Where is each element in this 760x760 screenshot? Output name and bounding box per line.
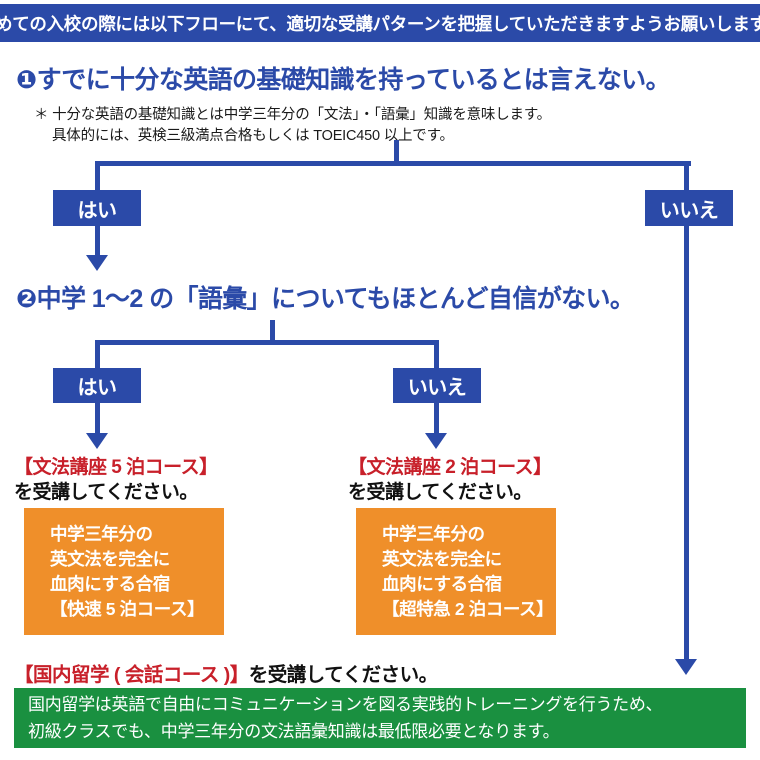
result-left-heading-red: 【文法講座 5 泊コース】 [14, 455, 218, 480]
final-heading-black: を受講してください。 [249, 664, 438, 686]
branch-q1-no-label: いいえ [660, 194, 719, 223]
question-1-footnote-line-1: ＊ 十分な英語の基礎知識とは中学三年分の「文法」・「語彙」知識を意味します。 [34, 103, 551, 124]
branch-q1-no-badge[interactable]: いいえ [645, 190, 733, 226]
result-right-box-line-3: 血肉にする合宿 [382, 572, 530, 597]
branch-q1-yes-badge[interactable]: はい [53, 190, 141, 226]
question-2-text: ❷中学 1〜2 の「語彙」についてもほとんど自信がない。 [16, 279, 634, 315]
final-heading-red: 【国内留学 ( 会話コース )】 [14, 664, 249, 686]
header-banner: 初めての入校の際には以下フローにて、適切な受講パターンを把握していただきますよう… [0, 4, 760, 42]
result-right-heading-red: 【文法講座 2 泊コース】 [348, 455, 552, 480]
result-right-box-line-4: 【超特急 2 泊コース】 [382, 597, 530, 622]
result-right-box-line-2: 英文法を完全に [382, 547, 530, 572]
result-left-box-line-2: 英文法を完全に [50, 547, 198, 572]
result-left-box-line-3: 血肉にする合宿 [50, 572, 198, 597]
connector-q1-yes-arrow [86, 255, 108, 271]
branch-q1-yes-label: はい [78, 194, 117, 223]
result-left-orange-box: 中学三年分の 英文法を完全に 血肉にする合宿 【快速 5 泊コース】 [24, 508, 224, 635]
result-left-box-line-1: 中学三年分の [50, 522, 198, 547]
branch-q2-no-label: いいえ [408, 371, 467, 400]
result-right-heading-black: を受講してください。 [348, 480, 552, 505]
final-box-line-2: 初級クラスでも、中学三年分の文法語彙知識は最低限必要となります。 [28, 718, 746, 745]
flowchart-page: 初めての入校の際には以下フローにて、適切な受講パターンを把握していただきますよう… [0, 0, 760, 760]
branch-q2-yes-label: はい [78, 371, 117, 400]
result-left-heading: 【文法講座 5 泊コース】 を受講してください。 [14, 455, 218, 505]
connector-q2-no-arrow [425, 433, 447, 449]
branch-q2-no-badge[interactable]: いいえ [393, 368, 481, 403]
connector-q1-no-arrow [675, 659, 697, 675]
branch-q2-yes-badge[interactable]: はい [53, 368, 141, 403]
connector-q1-split-bar [95, 161, 691, 166]
result-left-box-line-4: 【快速 5 泊コース】 [50, 597, 198, 622]
result-right-box-line-1: 中学三年分の [382, 522, 530, 547]
result-left-heading-black: を受講してください。 [14, 480, 218, 505]
connector-q2-trunk [270, 320, 275, 342]
final-heading: 【国内留学 ( 会話コース )】を受講してください。 [14, 658, 438, 687]
connector-q1-no-line [684, 161, 689, 661]
final-green-box: 国内留学は英語で自由にコミュニケーションを図る実践的トレーニングを行うため、 初… [14, 688, 746, 748]
question-1-text: ❶すでに十分な英語の基礎知識を持っているとは言えない。 [16, 60, 670, 96]
result-right-orange-box: 中学三年分の 英文法を完全に 血肉にする合宿 【超特急 2 泊コース】 [356, 508, 556, 635]
connector-q2-split-bar [95, 340, 439, 345]
header-banner-text: 初めての入校の際には以下フローにて、適切な受講パターンを把握していただきますよう… [0, 11, 760, 36]
final-box-line-1: 国内留学は英語で自由にコミュニケーションを図る実践的トレーニングを行うため、 [28, 691, 746, 718]
result-right-heading: 【文法講座 2 泊コース】 を受講してください。 [348, 455, 552, 505]
connector-q2-yes-arrow [86, 433, 108, 449]
